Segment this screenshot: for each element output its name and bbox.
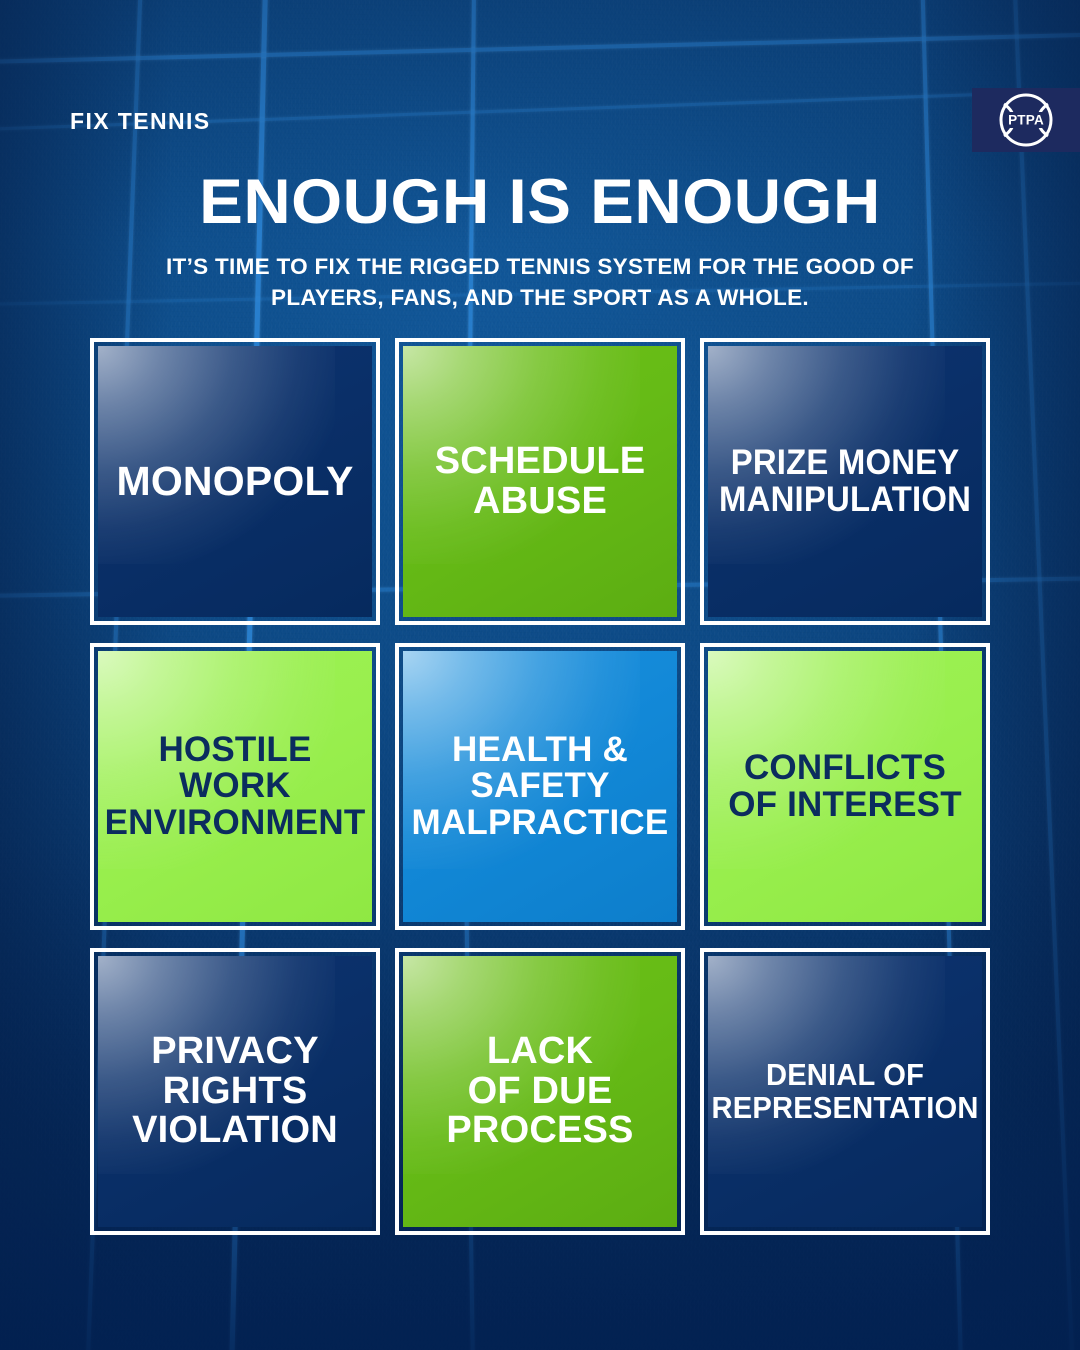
issue-tile-denial-of-representation[interactable]: DENIAL OFREPRESENTATION bbox=[700, 948, 990, 1235]
issue-tile-health-safety[interactable]: HEALTH &SAFETYMALPRACTICE bbox=[395, 643, 685, 930]
issue-tile-label: HOSTILEWORKENVIRONMENT bbox=[97, 732, 374, 841]
issue-tile-privacy-rights[interactable]: PRIVACYRIGHTSVIOLATION bbox=[90, 948, 380, 1235]
issue-tile-label: PRIVACYRIGHTSVIOLATION bbox=[124, 1032, 346, 1151]
issue-tile-label: CONFLICTSOF INTEREST bbox=[720, 750, 970, 823]
issue-tile-schedule-abuse[interactable]: SCHEDULEABUSE bbox=[395, 338, 685, 625]
tennis-ball-icon: PTPA bbox=[995, 89, 1057, 151]
issue-tile-label: MONOPOLY bbox=[108, 460, 361, 503]
issue-tile-label: LACKOF DUEPROCESS bbox=[438, 1032, 641, 1151]
issue-tile-label: HEALTH &SAFETYMALPRACTICE bbox=[404, 732, 677, 841]
issue-tile-label: DENIAL OFREPRESENTATION bbox=[704, 1059, 986, 1123]
page-title: ENOUGH IS ENOUGH bbox=[0, 166, 1080, 238]
issue-tile-conflicts-of-interest[interactable]: CONFLICTSOF INTEREST bbox=[700, 643, 990, 930]
issues-grid: MONOPOLYSCHEDULEABUSEPRIZE MONEYMANIPULA… bbox=[90, 338, 990, 1235]
ptpa-logo: PTPA bbox=[972, 88, 1080, 152]
issue-tile-hostile-work[interactable]: HOSTILEWORKENVIRONMENT bbox=[90, 643, 380, 930]
issue-tile-label: SCHEDULEABUSE bbox=[427, 442, 654, 521]
page-subtitle: IT’S TIME TO FIX THE RIGGED TENNIS SYSTE… bbox=[120, 252, 960, 313]
issue-tile-prize-money[interactable]: PRIZE MONEYMANIPULATION bbox=[700, 338, 990, 625]
ptpa-logo-text: PTPA bbox=[1008, 113, 1044, 128]
kicker-label: FIX TENNIS bbox=[70, 108, 211, 135]
poster-canvas: FIX TENNIS PTPA ENOUGH IS ENOUGH IT’S TI… bbox=[0, 0, 1080, 1350]
issue-tile-lack-of-due-process[interactable]: LACKOF DUEPROCESS bbox=[395, 948, 685, 1235]
issue-tile-label: PRIZE MONEYMANIPULATION bbox=[711, 445, 978, 518]
issue-tile-monopoly[interactable]: MONOPOLY bbox=[90, 338, 380, 625]
